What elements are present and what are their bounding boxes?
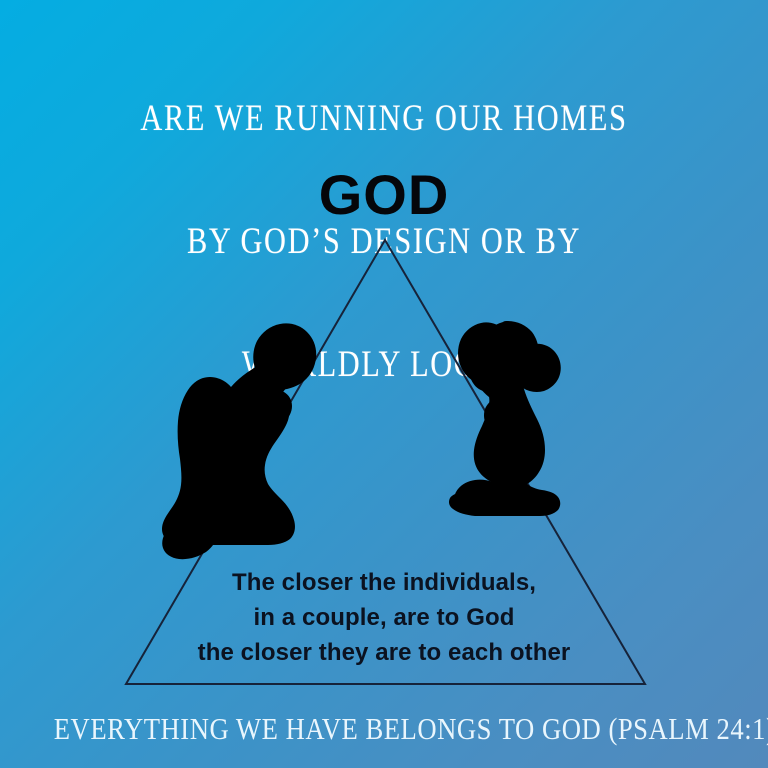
quote-line-1: The closer the individuals,	[0, 565, 768, 600]
praying-man-silhouette	[162, 323, 316, 559]
quote-line-3: the closer they are to each other	[0, 635, 768, 670]
praying-woman-silhouette	[449, 321, 561, 516]
poster-canvas: ARE WE RUNNING OUR HOMES BY GOD’S DESIGN…	[0, 0, 768, 768]
quote-line-2: in a couple, are to God	[0, 600, 768, 635]
scripture-caption: EVERYTHING WE HAVE BELONGS TO GOD (PSALM…	[54, 712, 714, 746]
quote-block: The closer the individuals, in a couple,…	[0, 565, 768, 670]
